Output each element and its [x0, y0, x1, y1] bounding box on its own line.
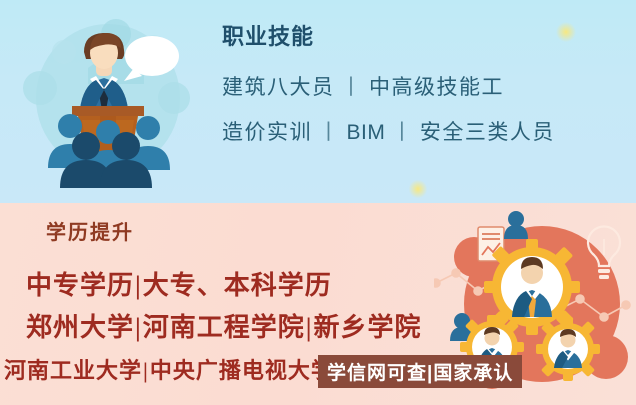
degree-line-1: 中专学历|大专、本科学历 [26, 265, 332, 302]
degree-advancement-panel: 学历提升 中专学历|大专、本科学历 郑州大学|河南工程学院|新乡学院 河南工业大… [0, 203, 636, 405]
separator-icon: 丨 [312, 121, 347, 144]
skills-line1-item1: 建筑八大员 [222, 76, 335, 99]
degree-line2-item3: 新乡学院 [314, 313, 422, 342]
separator-icon: 丨 [385, 121, 420, 144]
audience-silhouettes [48, 114, 170, 188]
skills-line1-item2: 中高级技能工 [369, 76, 504, 99]
degree-line-2: 郑州大学|河南工程学院|新乡学院 [26, 307, 422, 344]
verification-badge-label: 学信网可查|国家承认 [327, 358, 513, 385]
degree-line-3: 河南工业大学|中央广播电视大学 [4, 353, 334, 385]
degree-heading: 学历提升 [46, 223, 134, 243]
degree-line2-item1: 郑州大学 [26, 313, 134, 342]
small-gear-person-right [536, 317, 600, 381]
divider-icon: | [305, 313, 314, 342]
degree-line1-item2: 大专、本科学历 [143, 271, 332, 300]
speaker-at-podium-illustration [8, 6, 208, 196]
skills-line-1: 建筑八大员丨中高级技能工 [222, 65, 626, 110]
verification-badge: 学信网可查|国家承认 [318, 355, 522, 388]
promo-banner: 职业技能 建筑八大员丨中高级技能工 造价实训丨BIM丨安全三类人员 [0, 0, 636, 405]
skills-text-block: 职业技能 建筑八大员丨中高级技能工 造价实训丨BIM丨安全三类人员 [222, 26, 626, 155]
degree-line2-item2: 河南工程学院 [143, 313, 305, 342]
skills-line2-item2: BIM [347, 121, 386, 144]
degree-line3-item1: 河南工业大学 [4, 358, 142, 383]
vocational-skills-panel: 职业技能 建筑八大员丨中高级技能工 造价实训丨BIM丨安全三类人员 [0, 0, 636, 203]
divider-icon: | [142, 358, 150, 383]
skills-line-2: 造价实训丨BIM丨安全三类人员 [222, 110, 626, 155]
divider-icon: | [134, 271, 143, 300]
divider-icon: | [134, 313, 143, 342]
skills-heading: 职业技能 [222, 26, 626, 48]
degree-line1-item1: 中专学历 [26, 271, 134, 300]
skills-line2-item1: 造价实训 [222, 121, 312, 144]
skills-line2-item3: 安全三类人员 [420, 121, 555, 144]
degree-line3-item2: 中央广播电视大学 [150, 358, 334, 383]
separator-icon: 丨 [335, 76, 370, 99]
